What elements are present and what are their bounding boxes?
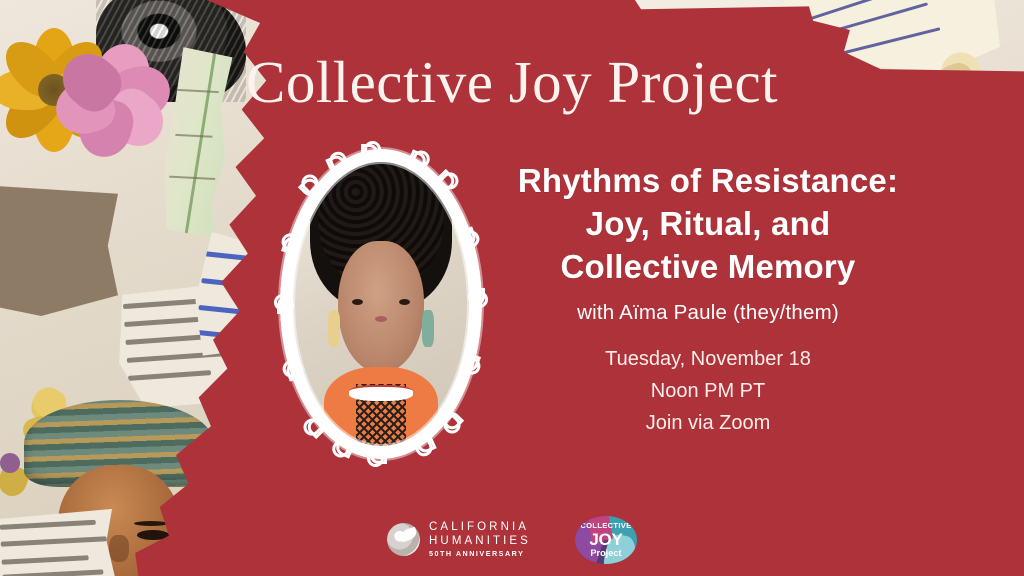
event-date: Tuesday, November 18 <box>498 343 918 375</box>
bark-texture <box>0 186 118 316</box>
event-time: Noon PM PT <box>498 375 918 407</box>
page-title: Collective Joy Project <box>0 48 1024 117</box>
event-logistics: Tuesday, November 18 Noon PM PT Join via… <box>498 343 918 440</box>
collective-joy-project-logo[interactable]: COLLECTIVE JOY Project <box>575 516 637 564</box>
cj-line-3: Project <box>580 549 631 558</box>
logo-row: CALIFORNIA HUMANITIES 50TH ANNIVERSARY C… <box>0 516 1024 564</box>
california-humanities-logo[interactable]: CALIFORNIA HUMANITIES 50TH ANNIVERSARY <box>387 521 531 559</box>
ornate-oval-frame <box>268 139 494 469</box>
headline-line-1: Rhythms of Resistance: <box>498 160 918 203</box>
cj-line-2: JOY <box>580 531 631 548</box>
event-poster: Collective Joy Project <box>0 0 1024 576</box>
event-access[interactable]: Join via Zoom <box>498 407 918 439</box>
cj-line-1: COLLECTIVE <box>580 522 631 530</box>
swirl-icon <box>387 523 420 556</box>
ch-anniversary: 50TH ANNIVERSARY <box>429 550 531 558</box>
event-details-column: Rhythms of Resistance: Joy, Ritual, and … <box>498 160 918 440</box>
ch-line-1: CALIFORNIA <box>429 521 531 535</box>
speaker-portrait <box>268 139 494 469</box>
ch-line-2: HUMANITIES <box>429 535 531 549</box>
presenter-name: with Aïma Paule (they/them) <box>498 301 918 325</box>
headline-line-2: Joy, Ritual, and <box>498 203 918 246</box>
headline-line-3: Collective Memory <box>498 246 918 289</box>
event-headline: Rhythms of Resistance: Joy, Ritual, and … <box>498 160 918 289</box>
